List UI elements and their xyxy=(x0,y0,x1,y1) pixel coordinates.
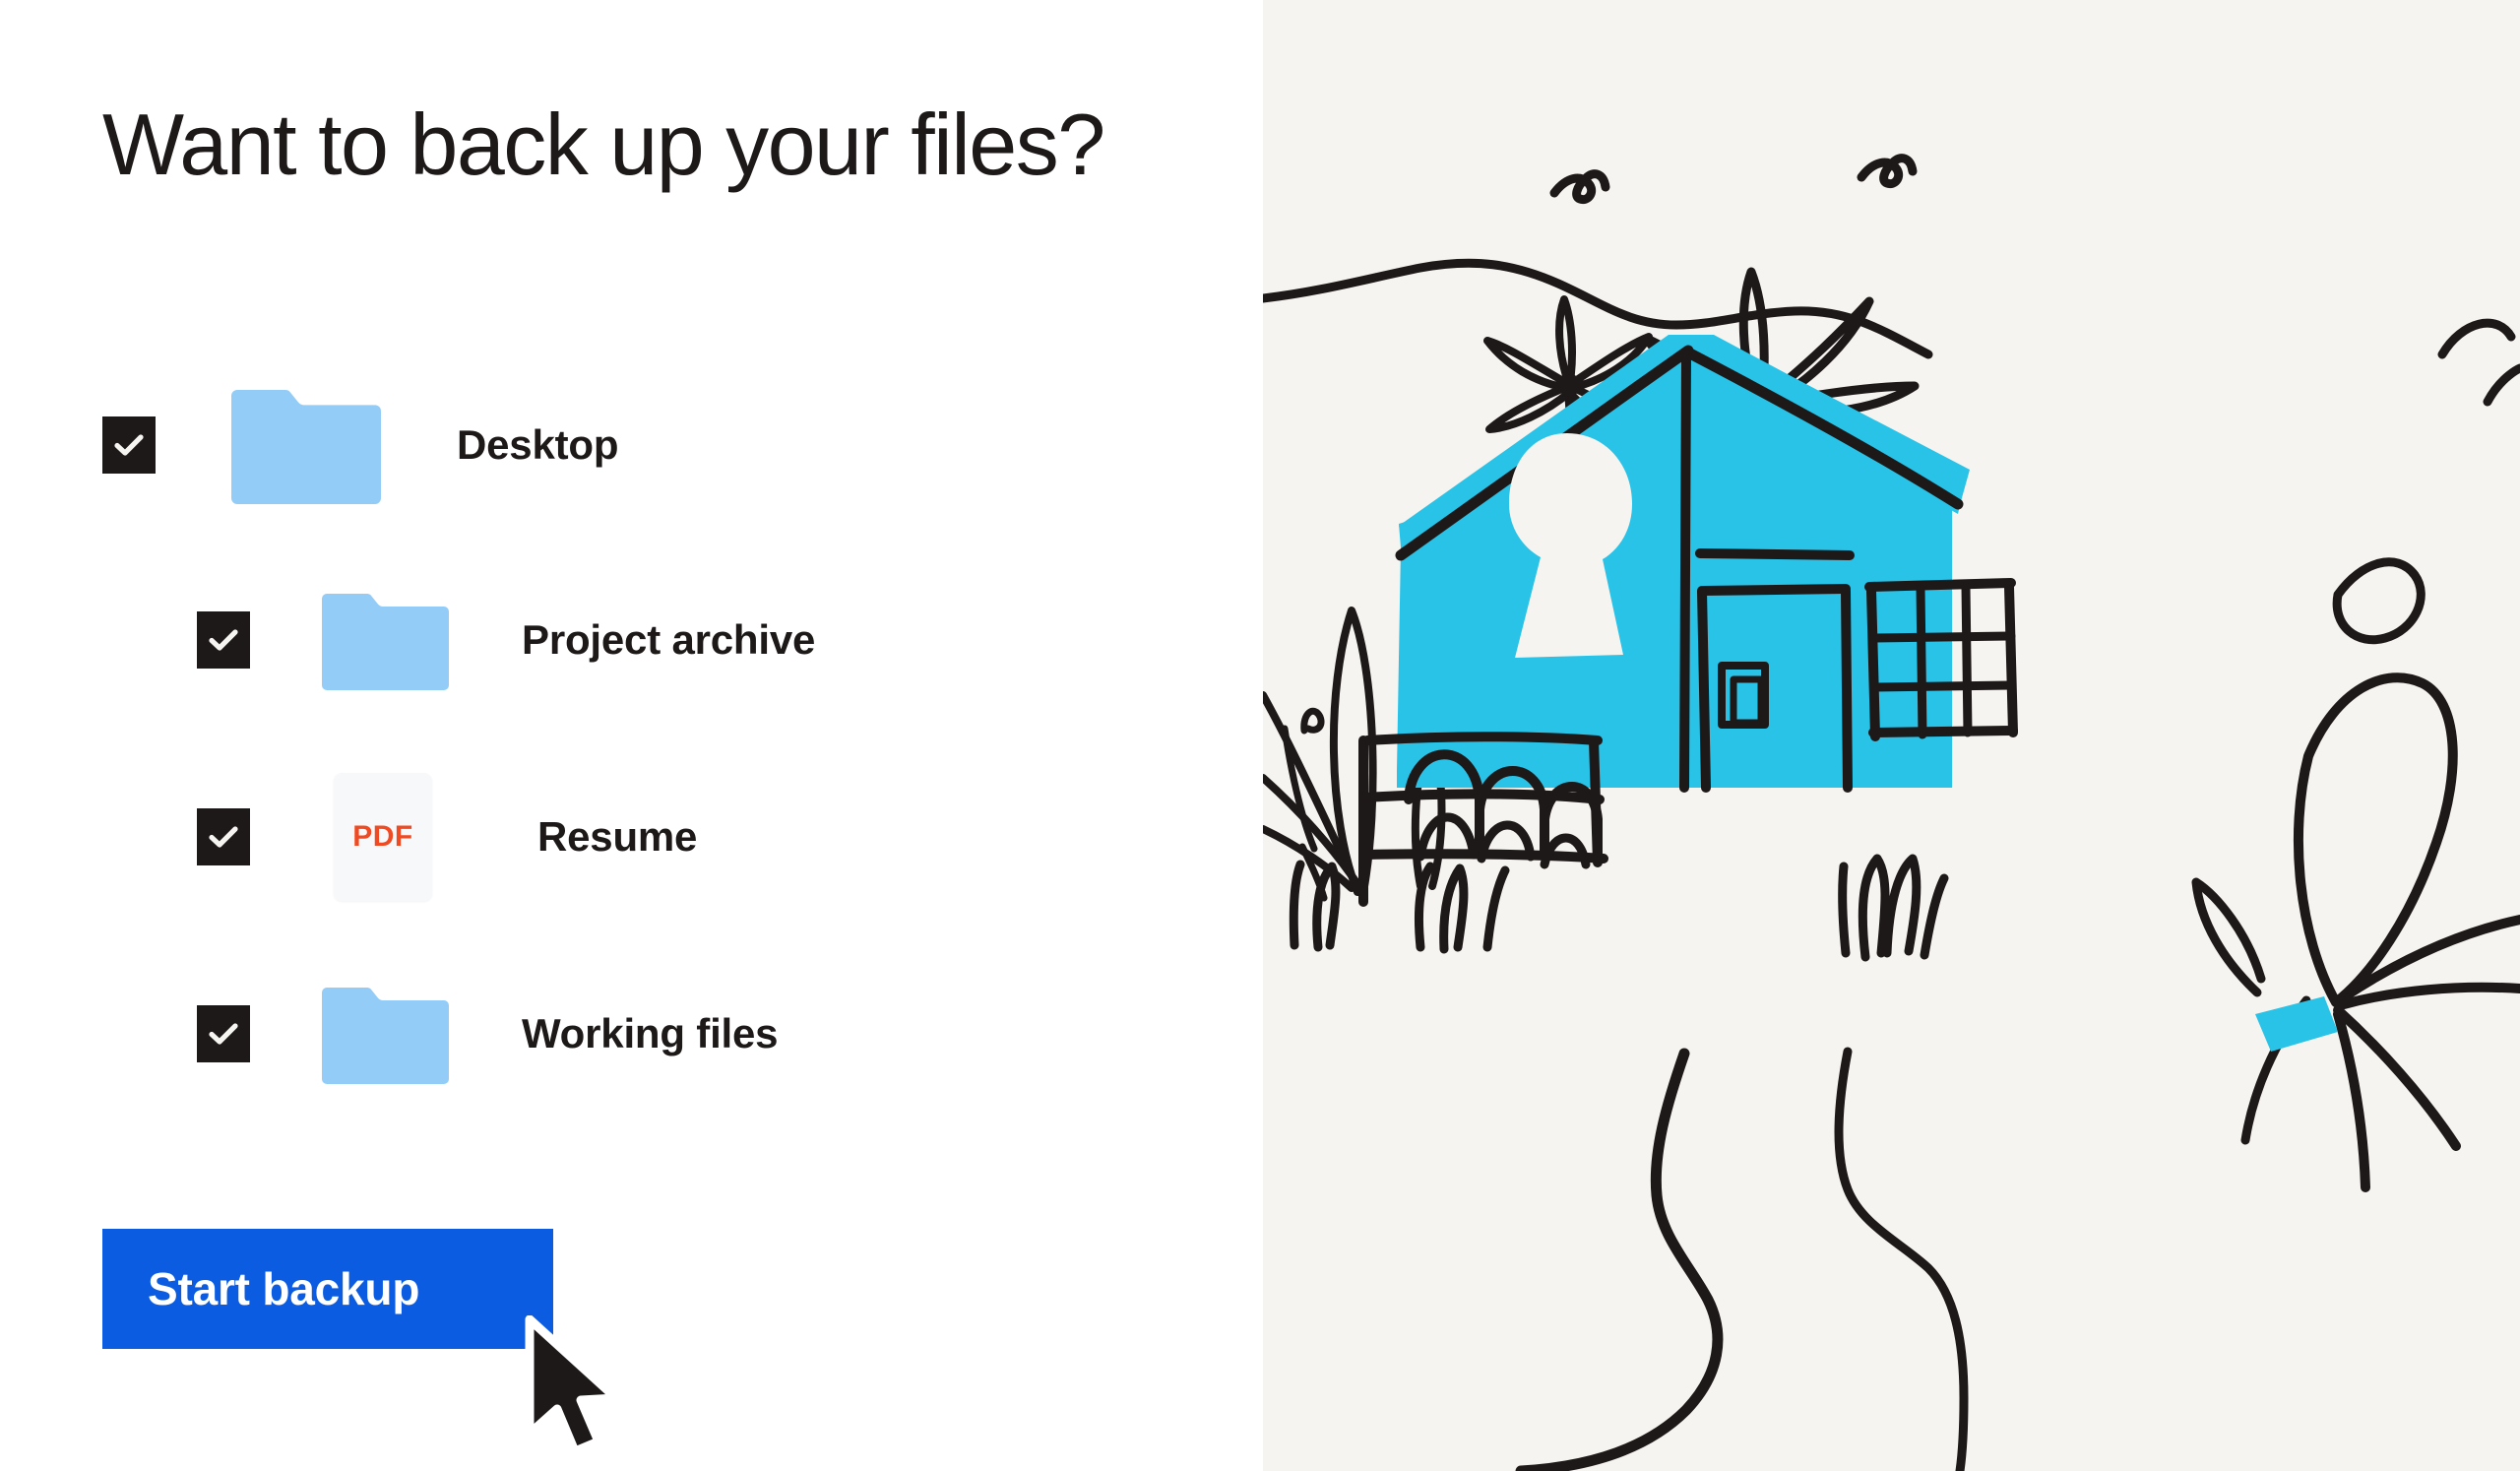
checkbox-project-archive[interactable] xyxy=(197,611,250,669)
list-item[interactable]: Working files xyxy=(197,975,778,1093)
folder-icon xyxy=(225,386,381,504)
list-item[interactable]: Project archive xyxy=(197,581,815,699)
check-icon xyxy=(207,820,240,854)
pdf-file-icon: PDF xyxy=(334,773,432,901)
checkbox-desktop[interactable] xyxy=(102,416,156,474)
folder-icon xyxy=(317,984,449,1084)
pdf-label: PDF xyxy=(352,820,413,854)
list-item-label: Working files xyxy=(522,1010,778,1057)
list-item-label: Desktop xyxy=(457,421,618,469)
keyhole-cutout xyxy=(1509,433,1632,658)
file-icon-slot xyxy=(299,970,467,1098)
illustration-panel xyxy=(1263,0,2520,1471)
checkbox-resume[interactable] xyxy=(197,808,250,865)
list-item-label: Resume xyxy=(537,813,697,861)
check-icon xyxy=(207,623,240,657)
file-icon-slot: PDF xyxy=(299,773,467,901)
page-title: Want to back up your files? xyxy=(102,91,1106,199)
backup-onboarding-screen: Want to back up your files? Desktop xyxy=(0,0,2520,1471)
list-item[interactable]: Desktop xyxy=(102,386,618,504)
list-item-label: Project archive xyxy=(522,616,815,664)
folder-icon xyxy=(317,590,449,690)
file-icon-slot xyxy=(205,371,402,519)
file-icon-slot xyxy=(299,576,467,704)
check-icon xyxy=(207,1017,240,1051)
start-backup-button[interactable]: Start backup xyxy=(102,1229,553,1349)
list-item[interactable]: PDF Resume xyxy=(197,778,697,896)
left-content-panel: Want to back up your files? Desktop xyxy=(0,0,1263,1471)
check-icon xyxy=(112,428,146,462)
checkbox-working-files[interactable] xyxy=(197,1005,250,1062)
house-with-keyhole-illustration xyxy=(1263,0,2520,1471)
